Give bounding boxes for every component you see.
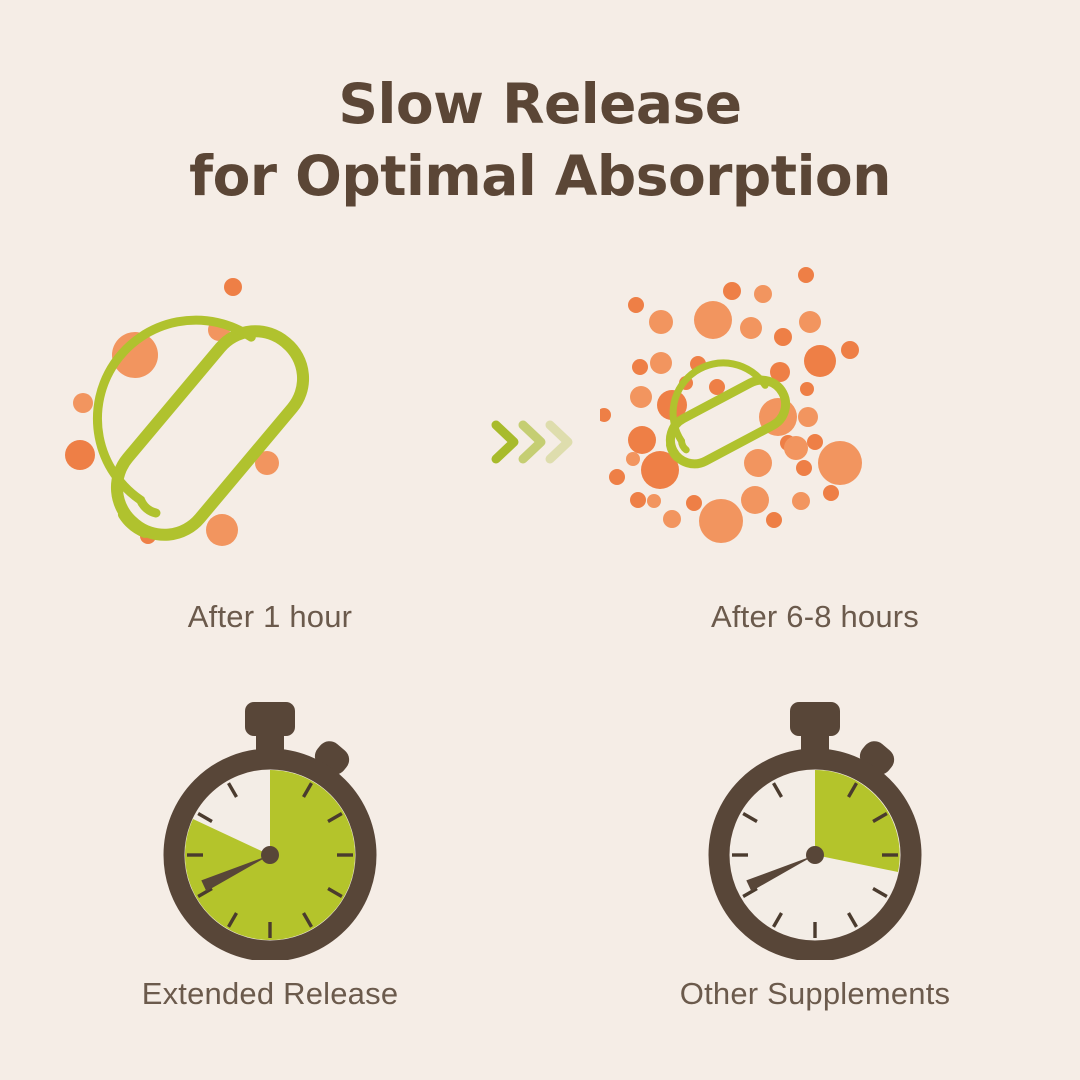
- title-line-1: Slow Release: [0, 68, 1080, 140]
- particle-dot: [628, 297, 644, 313]
- chevron-right-icon: [496, 425, 514, 459]
- particle-dot: [741, 486, 769, 514]
- particle-dot: [798, 407, 818, 427]
- stopwatch-extended-release: [55, 700, 485, 970]
- chevron-right-icon: [550, 425, 568, 459]
- particle-dot: [807, 434, 823, 450]
- particle-dot: [647, 494, 661, 508]
- particle-dot: [841, 341, 859, 359]
- particle-dot: [609, 469, 625, 485]
- particle-dot: [73, 393, 93, 413]
- particle-dot: [766, 512, 782, 528]
- progression-arrow: [490, 412, 590, 472]
- capsule-large-icon: [55, 266, 322, 555]
- particle-dot: [798, 267, 814, 283]
- particle-dot: [800, 382, 814, 396]
- particle-dot: [224, 278, 242, 296]
- stopwatch-other-supplements: [600, 700, 1030, 970]
- particle-dot: [784, 436, 808, 460]
- caption-after-6-8-hours: After 6-8 hours: [600, 598, 1030, 636]
- particle-dot: [804, 345, 836, 377]
- particle-dot: [626, 452, 640, 466]
- particle-dot: [740, 317, 762, 339]
- stopwatch-hand-hub: [261, 846, 279, 864]
- particle-dot: [65, 440, 95, 470]
- particle-dot: [799, 311, 821, 333]
- particle-dot: [823, 485, 839, 501]
- particle-dot: [600, 408, 611, 422]
- particle-dot: [699, 499, 743, 543]
- stopwatch-hand-hub: [806, 846, 824, 864]
- particle-dot: [686, 495, 702, 511]
- capsule-illustration-large: [55, 255, 485, 585]
- particle-group-right: [600, 267, 862, 543]
- chevron-right-icon: [523, 425, 541, 459]
- particle-dot: [663, 510, 681, 528]
- page-title: Slow Release for Optimal Absorption: [0, 68, 1080, 212]
- caption-extended-release: Extended Release: [55, 975, 485, 1013]
- particle-dot: [754, 285, 772, 303]
- panel-after-6-8-hours: [600, 255, 1030, 585]
- particle-dot: [206, 514, 238, 546]
- particle-dot: [628, 426, 656, 454]
- particle-dot: [630, 492, 646, 508]
- caption-after-1-hour: After 1 hour: [55, 598, 485, 636]
- particle-dot: [694, 301, 732, 339]
- caption-other-supplements: Other Supplements: [600, 975, 1030, 1013]
- particle-dot: [796, 460, 812, 476]
- capsule-illustration-small: [600, 255, 1030, 585]
- particle-dot: [632, 359, 648, 375]
- particle-dot: [650, 352, 672, 374]
- particle-dot: [630, 386, 652, 408]
- title-line-2: for Optimal Absorption: [0, 140, 1080, 212]
- particle-dot: [792, 492, 810, 510]
- particle-dot: [649, 310, 673, 334]
- particle-dot: [723, 282, 741, 300]
- panel-after-1-hour: [55, 255, 485, 585]
- particle-dot: [774, 328, 792, 346]
- particle-dot: [818, 441, 862, 485]
- particle-dot: [744, 449, 772, 477]
- infographic-canvas: Slow Release for Optimal Absorption: [0, 0, 1080, 1080]
